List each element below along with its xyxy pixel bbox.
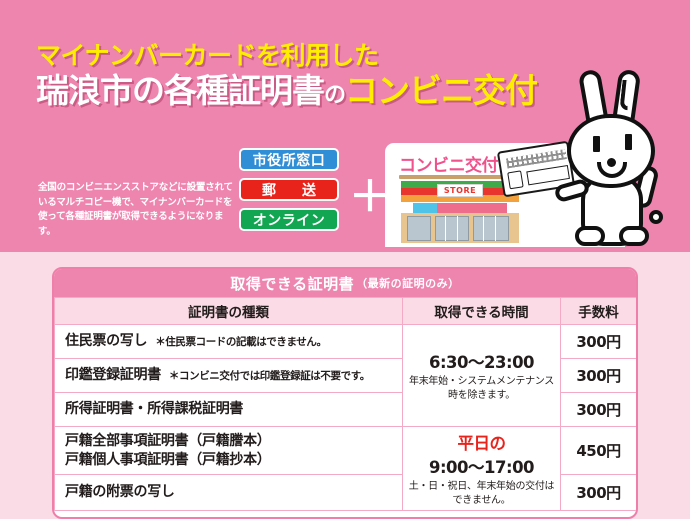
cert-fee: 450円 (561, 427, 637, 475)
hero-banner: マイナンバーカードを利用した 瑞浪市の各種証明書のコンビニ交付 全国のコンビニエ… (0, 0, 690, 252)
cert-type-shotoku: 所得証明書・所得課税証明書 (55, 393, 403, 427)
cert-type-juminhyo: 住民票の写し＊住民票コードの記載はできません。 (55, 325, 403, 359)
cert-name: 所得証明書・所得課税証明書 (65, 401, 243, 417)
cert-name: 戸籍の附票の写し (65, 483, 392, 502)
time-prefix-2: 平日の (407, 430, 556, 454)
plus-icon: ＋ (349, 180, 387, 218)
cert-type-koseki: 戸籍全部事項証明書（戸籍謄本） 戸籍個人事項証明書（戸籍抄本） (55, 427, 403, 475)
cert-fee: 300円 (561, 475, 637, 511)
table-row: 戸籍全部事項証明書（戸籍謄本） 戸籍個人事項証明書（戸籍抄本） 平日の 9:00… (55, 427, 637, 475)
cert-note: ＊住民票コードの記載はできません。 (155, 336, 326, 348)
store-panel-title: コンビニ交付 (399, 151, 498, 176)
cert-type-fuhyo: 戸籍の附票の写し (55, 475, 403, 511)
hero-title-particle: の (324, 83, 345, 108)
table-row: 住民票の写し＊住民票コードの記載はできません。 6:30〜23:00 年末年始・… (55, 325, 637, 359)
time-cell-group-2: 平日の 9:00〜17:00 土・日・祝日、年末年始の交付はできません。 (403, 427, 561, 511)
hero-title-konbini: コンビニ交付 (345, 71, 537, 110)
column-header-type: 証明書の種類 (55, 298, 403, 325)
cert-note: ＊コンビニ交付では印鑑登録証は不要です。 (169, 370, 370, 382)
time-note-1: 年末年始・システムメンテナンス時を除きます。 (407, 375, 556, 402)
column-header-fee: 手数料 (561, 298, 637, 325)
certificates-table: 証明書の種類 取得できる時間 手数料 住民票の写し＊住民票コードの記載はできませ… (54, 297, 637, 511)
page-root: マイナンバーカードを利用した 瑞浪市の各種証明書のコンビニ交付 全国のコンビニエ… (0, 0, 690, 519)
channel-pill-online[interactable]: オンライン (239, 208, 339, 231)
table-header-row: 証明書の種類 取得できる時間 手数料 (55, 298, 637, 325)
hero-title-line2: 瑞浪市の各種証明書のコンビニ交付 (36, 73, 556, 110)
column-header-time: 取得できる時間 (403, 298, 561, 325)
channel-pill-group: 市役所窓口 郵 送 オンライン (239, 148, 339, 231)
cert-fee: 300円 (561, 359, 637, 393)
cert-type-inkan: 印鑑登録証明書＊コンビニ交付では印鑑登録証は不要です。 (55, 359, 403, 393)
time-cell-group-1: 6:30〜23:00 年末年始・システムメンテナンス時を除きます。 (403, 325, 561, 427)
cert-name: 住民票の写し (65, 333, 147, 349)
time-note-2: 土・日・祝日、年末年始の交付はできません。 (407, 480, 556, 507)
cert-name: 印鑑登録証明書 (65, 367, 161, 383)
certificates-table-card: 取得できる証明書 （最新の証明のみ） 証明書の種類 取得できる時間 手数料 住民… (52, 267, 638, 519)
hero-lead-text: 全国のコンビニエンスストアなどに設置されているマルチコピー機で、マイナンバーカー… (38, 181, 238, 240)
hero-title-line1: マイナンバーカードを利用した (36, 42, 556, 71)
hero-title-city-certs: 瑞浪市の各種証明書 (36, 71, 324, 110)
hero-title: マイナンバーカードを利用した 瑞浪市の各種証明書のコンビニ交付 (36, 42, 556, 110)
time-hours-1: 6:30〜23:00 (407, 349, 556, 373)
mascot-rabbit-icon (545, 70, 685, 252)
cert-fee: 300円 (561, 393, 637, 427)
table-title: 取得できる証明書 （最新の証明のみ） (54, 269, 636, 297)
table-title-main: 取得できる証明書 (230, 273, 354, 294)
cert-name-2: 戸籍個人事項証明書（戸籍抄本） (65, 451, 392, 470)
time-hours-2: 9:00〜17:00 (407, 454, 556, 478)
channel-pill-counter[interactable]: 市役所窓口 (239, 148, 339, 171)
cert-fee: 300円 (561, 325, 637, 359)
channel-pill-mail[interactable]: 郵 送 (239, 178, 339, 201)
store-sign-label: STORE (437, 184, 483, 197)
table-title-sub: （最新の証明のみ） (356, 275, 460, 291)
cert-name: 戸籍全部事項証明書（戸籍謄本） (65, 432, 392, 451)
